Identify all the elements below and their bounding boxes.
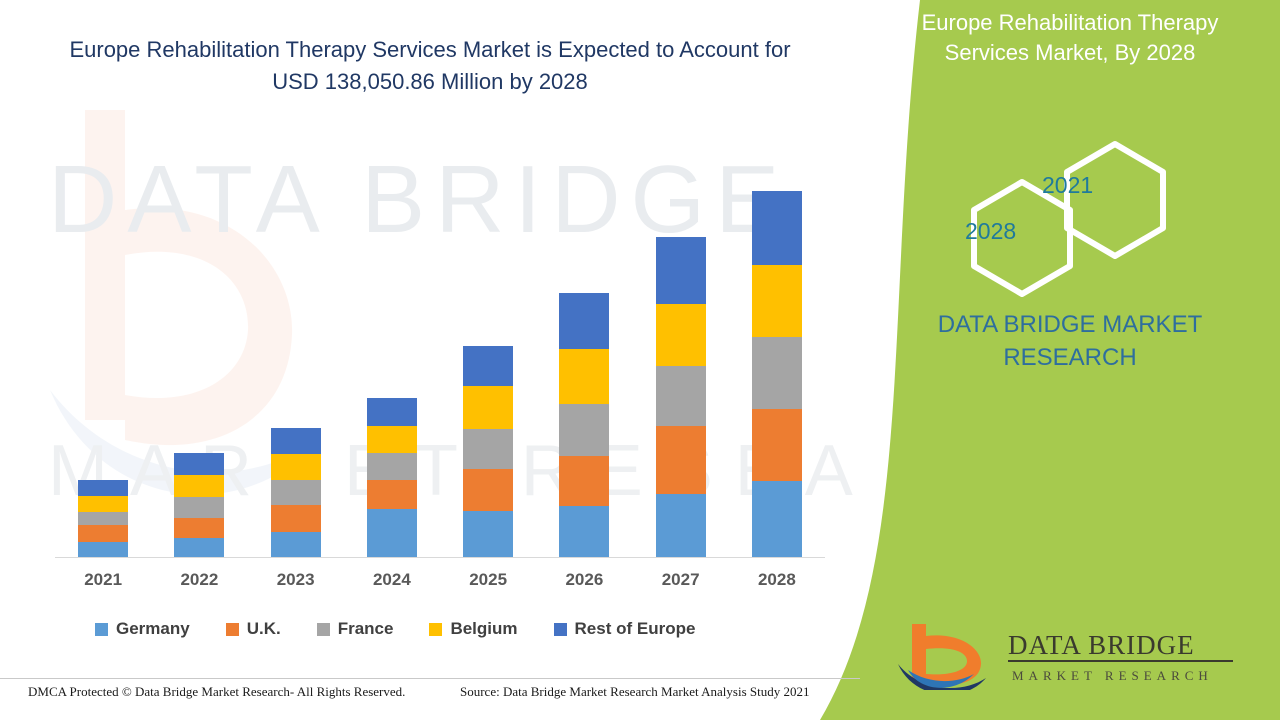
bar-segment (271, 454, 321, 480)
bar-segment (463, 386, 513, 429)
stacked-bar (367, 398, 417, 558)
stacked-bar (174, 453, 224, 558)
bar-segment (271, 505, 321, 532)
x-axis-label: 2021 (55, 570, 151, 590)
stacked-bar (463, 346, 513, 558)
bar-segment (78, 512, 128, 525)
stacked-bar (656, 237, 706, 558)
footer-divider (0, 678, 860, 679)
bar-segment (367, 509, 417, 558)
legend-item[interactable]: Belgium (429, 619, 517, 639)
bar-segment (656, 237, 706, 304)
bar-segment (78, 480, 128, 496)
bar-segment (271, 480, 321, 505)
bar-segment (174, 538, 224, 558)
brand-panel-content: Europe Rehabilitation Therapy Services M… (880, 0, 1280, 720)
bar-segment (174, 497, 224, 518)
legend-item[interactable]: U.K. (226, 619, 281, 639)
data-bridge-logo-icon: DATA BRIDGE MARKET RESEARCH (890, 620, 1250, 690)
bar-segment (656, 426, 706, 494)
legend-swatch-icon (554, 623, 567, 636)
svg-text:MARKET RESEARCH: MARKET RESEARCH (1012, 668, 1213, 683)
bar-segment (559, 293, 609, 349)
bar-segment (271, 428, 321, 454)
legend-swatch-icon (95, 623, 108, 636)
legend-item[interactable]: Germany (95, 619, 190, 639)
x-axis-label: 2025 (440, 570, 536, 590)
stacked-bar (752, 191, 802, 558)
legend-item[interactable]: France (317, 619, 394, 639)
legend-swatch-icon (226, 623, 239, 636)
footer-copyright: DMCA Protected © Data Bridge Market Rese… (28, 684, 405, 700)
bar-segment (559, 456, 609, 506)
bar-segment (271, 532, 321, 558)
stacked-bar (78, 480, 128, 558)
x-axis-labels: 20212022202320242025202620272028 (55, 570, 825, 598)
bar-segment (367, 453, 417, 480)
x-axis-line (55, 557, 825, 558)
bar-segment (174, 518, 224, 538)
bar-segment (78, 496, 128, 512)
bar-group (633, 170, 729, 558)
legend-label: U.K. (247, 619, 281, 639)
legend-label: France (338, 619, 394, 639)
legend-swatch-icon (429, 623, 442, 636)
bar-segment (463, 511, 513, 558)
bar-group (536, 170, 632, 558)
bar-segment (752, 337, 802, 409)
bar-segment (174, 453, 224, 475)
bar-segment (463, 346, 513, 386)
bar-group (248, 170, 344, 558)
legend-label: Germany (116, 619, 190, 639)
bar-segment (367, 426, 417, 453)
x-axis-label: 2028 (729, 570, 825, 590)
bar-segment (559, 349, 609, 404)
plot-area (55, 170, 825, 558)
footer-source: Source: Data Bridge Market Research Mark… (460, 684, 809, 700)
bar-segment (656, 304, 706, 366)
legend-swatch-icon (317, 623, 330, 636)
svg-text:DATA BRIDGE: DATA BRIDGE (1008, 630, 1195, 660)
bar-segment (463, 469, 513, 511)
stacked-bar (271, 428, 321, 558)
bar-segment (656, 494, 706, 558)
bar-segment (559, 506, 609, 558)
hex-label-end-year: 2028 (965, 218, 1016, 245)
bar-segment (174, 475, 224, 497)
stacked-bar (559, 293, 609, 558)
panel-title: Europe Rehabilitation Therapy Services M… (880, 8, 1260, 68)
bar-group (344, 170, 440, 558)
hex-label-start-year: 2021 (1042, 172, 1093, 199)
brand-name: DATA BRIDGE MARKET RESEARCH (880, 308, 1260, 374)
x-axis-label: 2024 (344, 570, 440, 590)
legend-label: Belgium (450, 619, 517, 639)
legend-item[interactable]: Rest of Europe (554, 619, 696, 639)
x-axis-label: 2022 (151, 570, 247, 590)
bar-group (729, 170, 825, 558)
bar-group (440, 170, 536, 558)
bar-segment (752, 481, 802, 558)
x-axis-label: 2026 (536, 570, 632, 590)
bar-segment (367, 480, 417, 509)
bar-segment (559, 404, 609, 456)
bar-segment (656, 366, 706, 426)
chart-legend: GermanyU.K.FranceBelgiumRest of Europe (95, 616, 731, 642)
bar-group (151, 170, 247, 558)
bar-segment (78, 525, 128, 542)
x-axis-label: 2023 (248, 570, 344, 590)
bar-segment (367, 398, 417, 426)
bar-segment (752, 265, 802, 337)
bar-segment (463, 429, 513, 469)
bar-group (55, 170, 151, 558)
chart-title: Europe Rehabilitation Therapy Services M… (60, 34, 800, 98)
bar-segment (78, 542, 128, 558)
chart-area: Europe Rehabilitation Therapy Services M… (0, 0, 860, 720)
bar-segment (752, 191, 802, 265)
x-axis-label: 2027 (633, 570, 729, 590)
legend-label: Rest of Europe (575, 619, 696, 639)
bar-segment (752, 409, 802, 481)
